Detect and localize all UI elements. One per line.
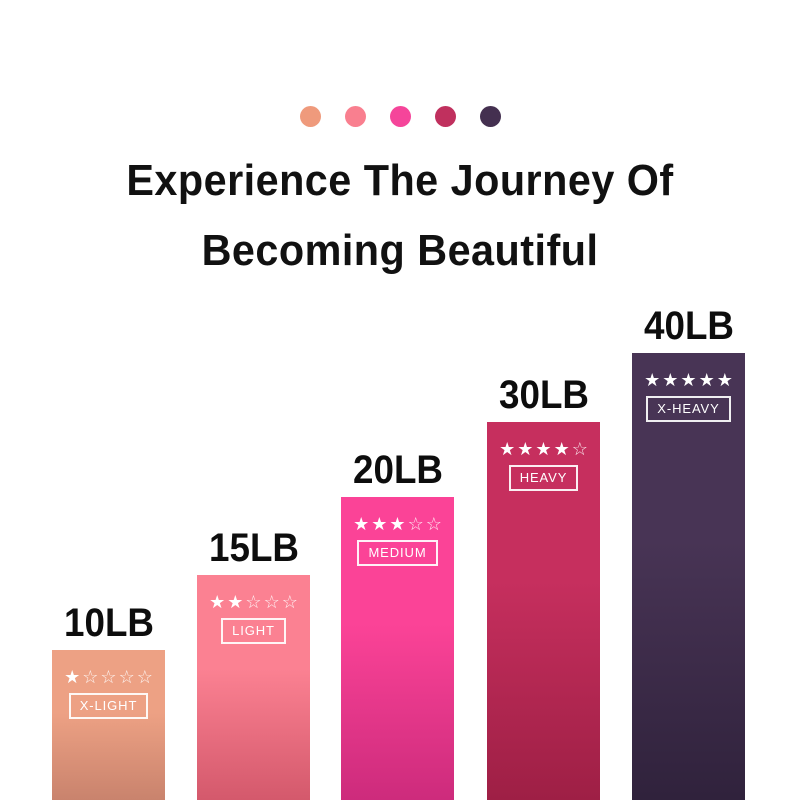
bar-weight-label: 10LB — [64, 602, 154, 644]
star-empty-icon: ☆ — [245, 593, 261, 611]
bar-fill: ★★★★★X-HEAVY — [632, 353, 745, 800]
resistance-badge: X-HEAVY — [646, 396, 730, 422]
resistance-badge: X-LIGHT — [69, 693, 149, 719]
poster-canvas: Experience The Journey Of Becoming Beaut… — [0, 0, 800, 800]
star-empty-icon: ☆ — [426, 515, 442, 533]
star-empty-icon: ☆ — [408, 515, 424, 533]
star-filled-icon: ★ — [227, 593, 243, 611]
bar-content: ★★★★☆HEAVY — [487, 440, 600, 491]
star-rating: ★★★★☆ — [499, 440, 588, 458]
bar-content: ★★★★★X-HEAVY — [632, 371, 745, 422]
star-filled-icon: ★ — [662, 371, 678, 389]
star-empty-icon: ☆ — [137, 668, 153, 686]
star-rating: ★★★★★ — [644, 371, 733, 389]
star-filled-icon: ★ — [353, 515, 369, 533]
bar-fill: ★☆☆☆☆X-LIGHT — [52, 650, 165, 800]
star-rating: ★★★☆☆ — [353, 515, 442, 533]
bar-group-20lb[interactable]: 20LB★★★☆☆MEDIUM — [341, 497, 454, 800]
resistance-badge: HEAVY — [509, 465, 579, 491]
bar-group-15lb[interactable]: 15LB★★☆☆☆LIGHT — [197, 575, 310, 800]
star-filled-icon: ★ — [389, 515, 405, 533]
bar-content: ★☆☆☆☆X-LIGHT — [52, 668, 165, 719]
bar-fill: ★★☆☆☆LIGHT — [197, 575, 310, 800]
star-empty-icon: ☆ — [100, 668, 116, 686]
star-filled-icon: ★ — [209, 593, 225, 611]
star-filled-icon: ★ — [554, 440, 570, 458]
bar-content: ★★★☆☆MEDIUM — [341, 515, 454, 566]
bar-weight-label: 40LB — [644, 305, 734, 347]
star-empty-icon: ☆ — [282, 593, 298, 611]
star-rating: ★☆☆☆☆ — [64, 668, 153, 686]
star-filled-icon: ★ — [371, 515, 387, 533]
bar-fill: ★★★☆☆MEDIUM — [341, 497, 454, 800]
resistance-badge: MEDIUM — [357, 540, 437, 566]
star-empty-icon: ☆ — [572, 440, 588, 458]
star-empty-icon: ☆ — [119, 668, 135, 686]
resistance-badge: LIGHT — [221, 618, 286, 644]
star-empty-icon: ☆ — [82, 668, 98, 686]
bar-group-40lb[interactable]: 40LB★★★★★X-HEAVY — [632, 353, 745, 800]
bar-weight-label: 15LB — [209, 527, 299, 569]
star-filled-icon: ★ — [644, 371, 660, 389]
bar-fill: ★★★★☆HEAVY — [487, 422, 600, 800]
bar-group-30lb[interactable]: 30LB★★★★☆HEAVY — [487, 422, 600, 800]
star-filled-icon: ★ — [680, 371, 696, 389]
star-filled-icon: ★ — [535, 440, 551, 458]
star-filled-icon: ★ — [517, 440, 533, 458]
resistance-bar-chart: 10LB★☆☆☆☆X-LIGHT15LB★★☆☆☆LIGHT20LB★★★☆☆M… — [0, 0, 800, 800]
star-filled-icon: ★ — [499, 440, 515, 458]
star-rating: ★★☆☆☆ — [209, 593, 298, 611]
bar-weight-label: 30LB — [499, 374, 589, 416]
bar-group-10lb[interactable]: 10LB★☆☆☆☆X-LIGHT — [52, 650, 165, 800]
bar-weight-label: 20LB — [353, 449, 443, 491]
star-empty-icon: ☆ — [264, 593, 280, 611]
star-filled-icon: ★ — [64, 668, 80, 686]
bar-content: ★★☆☆☆LIGHT — [197, 593, 310, 644]
star-filled-icon: ★ — [699, 371, 715, 389]
star-filled-icon: ★ — [717, 371, 733, 389]
